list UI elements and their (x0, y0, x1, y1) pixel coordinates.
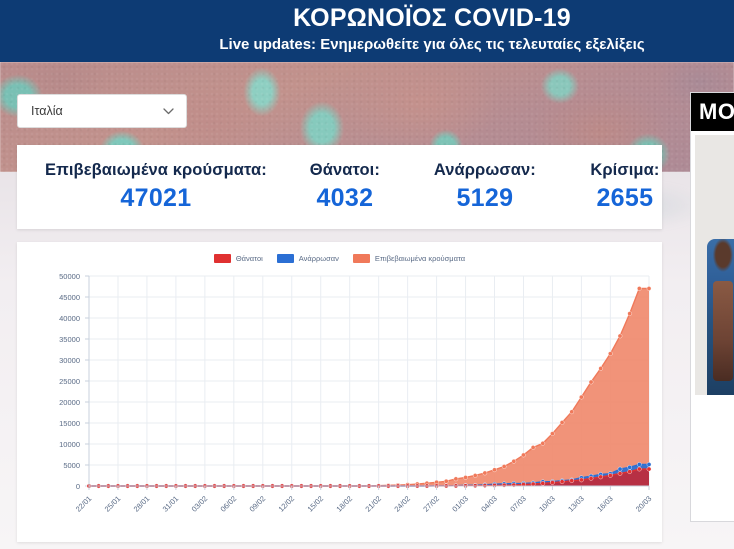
x-axis-tick-label: 10/03 (537, 494, 557, 514)
chart-data-point[interactable] (618, 467, 622, 471)
x-axis-tick-label: 20/03 (634, 494, 654, 514)
y-axis-tick-label: 0 (76, 482, 80, 491)
chart-data-point[interactable] (502, 464, 506, 468)
y-axis-tick-label: 30000 (59, 356, 80, 365)
chevron-down-icon (156, 95, 180, 127)
chart-data-point[interactable] (541, 481, 545, 485)
chart-data-point[interactable] (579, 395, 583, 399)
x-axis-tick-label: 28/01 (132, 494, 152, 514)
chart-data-point[interactable] (541, 441, 545, 445)
chart-data-point[interactable] (502, 483, 506, 487)
chart-legend: ΘάνατοιΑνάρρωσανΕπιβεβαιωμένα κρούσματα (17, 254, 662, 263)
legend-item[interactable]: Θάνατοι (214, 254, 263, 263)
chart-data-point[interactable] (599, 475, 603, 479)
chart-data-point[interactable] (579, 478, 583, 482)
stat-deaths-label: Θάνατοι: (291, 161, 399, 180)
y-axis-tick-label: 5000 (63, 461, 80, 470)
stat-deaths: Θάνατοι: 4032 (279, 161, 411, 213)
y-axis-tick-label: 15000 (59, 419, 80, 428)
chart-data-point[interactable] (473, 473, 477, 477)
country-select[interactable]: Ιταλία (17, 94, 187, 128)
site-header: ΚΟΡΩΝΟΪΟΣ COVID-19 Live updates: Ενημερω… (0, 0, 734, 62)
y-axis-tick-label: 40000 (59, 314, 80, 323)
x-axis-tick-label: 24/02 (392, 494, 412, 514)
y-axis-tick-label: 20000 (59, 398, 80, 407)
x-axis-tick-label: 07/03 (508, 494, 528, 514)
chart-data-point[interactable] (608, 473, 612, 477)
x-axis-tick-label: 25/01 (103, 494, 123, 514)
ad-image (695, 135, 734, 395)
chart-data-point[interactable] (628, 465, 632, 469)
stats-card: Επιβεβαιωμένα κρούσματα: 47021 Θάνατοι: … (17, 145, 662, 229)
legend-swatch (277, 254, 294, 263)
x-axis-tick-label: 27/02 (421, 494, 441, 514)
stat-deaths-value: 4032 (291, 184, 399, 213)
x-axis-tick-label: 16/03 (595, 494, 615, 514)
chart-data-point[interactable] (637, 286, 641, 290)
chart-data-point[interactable] (618, 471, 622, 475)
stat-critical: Κρίσιμα: 2655 (559, 161, 691, 213)
chart-data-point[interactable] (599, 366, 603, 370)
chart-plot-area: 0500010000150002000025000300003500040000… (17, 268, 662, 542)
ad-footer (695, 395, 734, 519)
chart-data-point[interactable] (560, 480, 564, 484)
x-axis-tick-label: 12/02 (277, 494, 297, 514)
legend-swatch (353, 254, 370, 263)
chart-data-point[interactable] (589, 476, 593, 480)
chart-data-point[interactable] (531, 445, 535, 449)
stat-critical-label: Κρίσιμα: (571, 161, 679, 180)
stat-recovered: Ανάρρωσαν: 5129 (411, 161, 559, 213)
x-axis-tick-label: 15/02 (305, 494, 325, 514)
stat-recovered-label: Ανάρρωσαν: (423, 161, 547, 180)
stat-confirmed: Επιβεβαιωμένα κρούσματα: 47021 (33, 161, 279, 213)
x-axis-tick-label: 04/03 (479, 494, 499, 514)
stat-recovered-value: 5129 (423, 184, 547, 213)
chart-data-point[interactable] (570, 479, 574, 483)
chart-card: ΘάνατοιΑνάρρωσανΕπιβεβαιωμένα κρούσματα … (17, 242, 662, 542)
chart-data-point[interactable] (608, 352, 612, 356)
chart-data-point[interactable] (463, 475, 467, 479)
chart-svg: 0500010000150002000025000300003500040000… (17, 268, 662, 542)
legend-item[interactable]: Ανάρρωσαν (277, 254, 339, 263)
chart-data-point[interactable] (637, 462, 641, 466)
chart-data-point[interactable] (512, 459, 516, 463)
y-axis-tick-label: 10000 (59, 440, 80, 449)
legend-swatch (214, 254, 231, 263)
legend-label: Επιβεβαιωμένα κρούσματα (375, 254, 465, 263)
ad-model-figure (707, 239, 734, 395)
ad-banner: MO (691, 93, 734, 131)
ad-banner-text: MO (699, 99, 734, 125)
x-axis-tick-label: 21/02 (363, 494, 383, 514)
x-axis-tick-label: 22/01 (74, 494, 94, 514)
y-axis-tick-label: 45000 (59, 293, 80, 302)
x-axis-tick-label: 03/02 (190, 494, 210, 514)
y-axis-tick-label: 50000 (59, 272, 80, 281)
chart-data-point[interactable] (589, 380, 593, 384)
chart-data-point[interactable] (618, 334, 622, 338)
chart-data-point[interactable] (570, 410, 574, 414)
chart-data-point[interactable] (444, 479, 448, 483)
chart-data-point[interactable] (492, 468, 496, 472)
chart-data-point[interactable] (550, 432, 554, 436)
chart-data-point[interactable] (483, 471, 487, 475)
country-select-value: Ιταλία (18, 104, 156, 118)
x-axis-tick-label: 13/03 (566, 494, 586, 514)
stat-critical-value: 2655 (571, 184, 679, 213)
stat-confirmed-value: 47021 (45, 184, 267, 213)
y-axis-tick-label: 25000 (59, 377, 80, 386)
chart-data-point[interactable] (647, 467, 651, 471)
chart-data-point[interactable] (560, 420, 564, 424)
legend-label: Ανάρρωσαν (299, 254, 339, 263)
legend-label: Θάνατοι (236, 254, 263, 263)
chart-data-point[interactable] (628, 312, 632, 316)
chart-data-point[interactable] (647, 462, 651, 466)
x-axis-tick-label: 31/01 (161, 494, 181, 514)
page-subtitle: Live updates: Ενημερωθείτε για όλες τις … (0, 36, 734, 53)
stat-confirmed-label: Επιβεβαιωμένα κρούσματα: (45, 161, 267, 180)
x-axis-tick-label: 06/02 (219, 494, 239, 514)
page-title: ΚΟΡΩΝΟΪΟΣ COVID-19 (0, 4, 734, 33)
chart-data-point[interactable] (454, 477, 458, 481)
chart-data-point[interactable] (637, 467, 641, 471)
chart-data-point[interactable] (550, 480, 554, 484)
chart-data-point[interactable] (628, 470, 632, 474)
chart-data-point[interactable] (647, 286, 651, 290)
x-axis-tick-label: 09/02 (248, 494, 268, 514)
x-axis-tick-label: 18/02 (334, 494, 354, 514)
legend-item[interactable]: Επιβεβαιωμένα κρούσματα (353, 254, 465, 263)
y-axis-tick-label: 35000 (59, 335, 80, 344)
x-axis-tick-label: 01/03 (450, 494, 470, 514)
chart-data-point[interactable] (521, 453, 525, 457)
sidebar-ad-panel[interactable]: MO (690, 92, 734, 522)
